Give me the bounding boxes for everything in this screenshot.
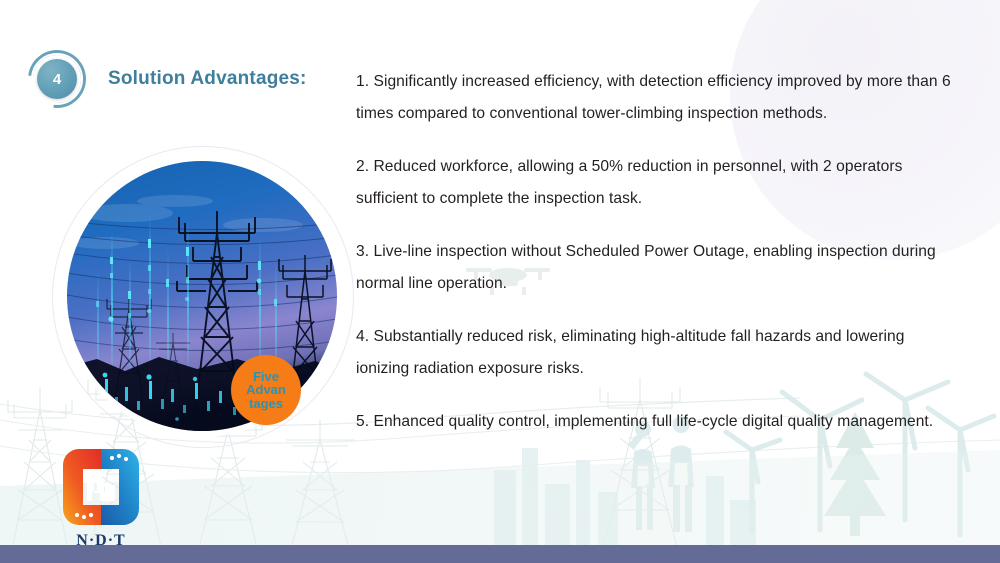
badge-line-3: tages: [249, 397, 283, 410]
advantages-list: 1. Significantly increased efficiency, w…: [356, 66, 956, 438]
presentation-slide: 4 Solution Advantages:: [0, 0, 1000, 563]
page-title: Solution Advantages:: [108, 68, 307, 90]
advantage-item-5: 5. Enhanced quality control, implementin…: [356, 406, 956, 438]
ndt-wordmark: N·D·T: [57, 532, 145, 550]
badge-line-1: Five: [253, 370, 279, 383]
section-number-badge: 4: [28, 50, 86, 108]
badge-number: 4: [37, 59, 77, 99]
advantage-item-3: 3. Live-line inspection without Schedule…: [356, 236, 956, 300]
slide-header: 4 Solution Advantages:: [28, 50, 307, 108]
advantage-item-2: 2. Reduced workforce, allowing a 50% red…: [356, 151, 956, 215]
footer-bar: [0, 545, 1000, 563]
ndt-logo: N·D·T: [57, 443, 145, 531]
advantage-item-1: 1. Significantly increased efficiency, w…: [356, 66, 956, 130]
city-skyline-watermark: [494, 448, 756, 548]
five-advantages-badge: Five Advan tages: [231, 355, 301, 425]
advantage-item-4: 4. Substantially reduced risk, eliminati…: [356, 321, 956, 385]
bottom-gradient-band: [0, 450, 1000, 545]
badge-line-2: Advan: [246, 383, 286, 396]
